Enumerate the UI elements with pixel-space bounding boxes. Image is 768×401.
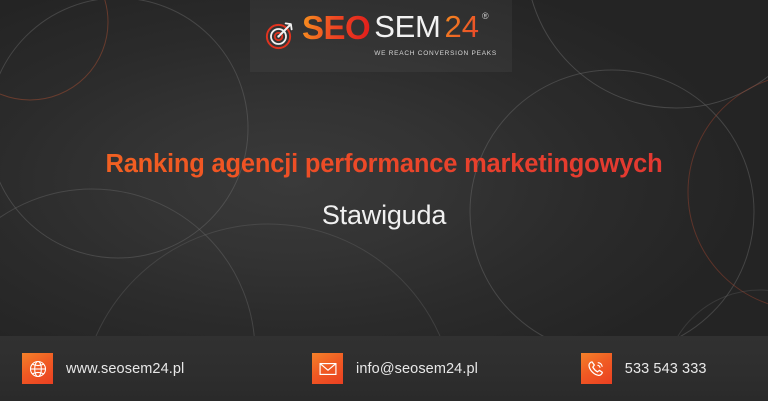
target-dart-icon bbox=[265, 20, 295, 50]
contact-phone[interactable]: 533 543 333 bbox=[519, 353, 768, 384]
phone-icon bbox=[581, 353, 612, 384]
page-title: Ranking agencji performance marketingowy… bbox=[0, 150, 768, 179]
contact-website[interactable]: www.seosem24.pl bbox=[0, 353, 271, 384]
brand-logo: SEO SEM 24 ® WE REACH CONVERSION PEAKS bbox=[250, 0, 512, 72]
envelope-icon bbox=[312, 353, 343, 384]
logo-text-seo: SEO bbox=[302, 11, 370, 44]
contact-email-text: info@seosem24.pl bbox=[356, 361, 478, 377]
page-subtitle: Stawiguda bbox=[0, 200, 768, 231]
slide-canvas: SEO SEM 24 ® WE REACH CONVERSION PEAKS R… bbox=[0, 0, 768, 401]
contact-website-text: www.seosem24.pl bbox=[66, 361, 184, 377]
registered-mark: ® bbox=[482, 12, 489, 21]
logo-text-sem: SEM bbox=[374, 11, 440, 42]
contact-email[interactable]: info@seosem24.pl bbox=[271, 353, 520, 384]
contact-phone-text: 533 543 333 bbox=[625, 361, 707, 377]
globe-icon bbox=[22, 353, 53, 384]
logo-tagline: WE REACH CONVERSION PEAKS bbox=[374, 50, 497, 57]
contact-footer: www.seosem24.pl info@seosem24.pl 533 543… bbox=[0, 336, 768, 401]
logo-text-24: 24 bbox=[440, 11, 478, 42]
